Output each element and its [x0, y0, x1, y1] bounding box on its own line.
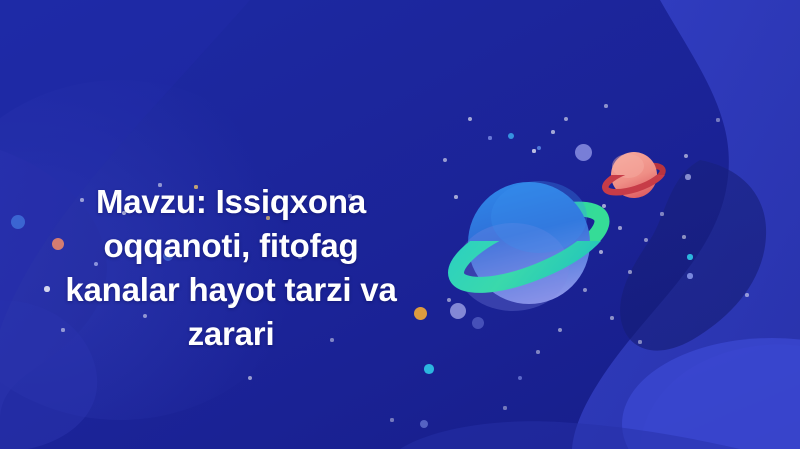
star-dot [518, 376, 522, 380]
star-dot [450, 270, 454, 274]
star-dot [468, 117, 472, 121]
star-dot [472, 317, 484, 329]
star-dot [390, 418, 393, 421]
star-dot [682, 235, 686, 239]
star-dot [532, 149, 535, 152]
slide-title: Mavzu: Issiqxona oqqanoti, fitofag kanal… [36, 180, 426, 356]
star-dot [454, 195, 458, 199]
star-dot [644, 238, 648, 242]
star-dot [745, 293, 749, 297]
star-dot [503, 406, 506, 409]
star-dot [11, 215, 25, 229]
star-dot [602, 204, 606, 208]
star-dot [420, 420, 428, 428]
star-dot [564, 117, 568, 121]
star-dot [551, 130, 555, 134]
star-dot [468, 251, 472, 255]
star-dot [248, 376, 253, 381]
star-dot [583, 288, 587, 292]
star-dot [638, 340, 641, 343]
star-dot [453, 265, 459, 271]
star-dot [716, 118, 719, 121]
star-dot [508, 133, 515, 140]
star-dot [443, 158, 448, 163]
ringed-planet-red-icon [602, 142, 670, 212]
star-dot [604, 104, 608, 108]
star-dot [618, 226, 622, 230]
star-dot [687, 273, 692, 278]
star-dot [687, 254, 692, 259]
star-dot [558, 328, 562, 332]
star-dot [685, 174, 690, 179]
star-dot [461, 285, 464, 288]
star-dot [684, 154, 688, 158]
star-dot [488, 136, 491, 139]
star-dot [628, 270, 632, 274]
star-dot [537, 146, 542, 151]
star-dot [660, 212, 663, 215]
star-dot [575, 144, 592, 161]
presentation-slide: Mavzu: Issiqxona oqqanoti, fitofag kanal… [0, 0, 800, 449]
star-dot [447, 298, 451, 302]
star-dot [599, 250, 604, 255]
ringed-planet-blue-icon [443, 155, 618, 335]
star-dot [536, 350, 540, 354]
star-dot [424, 364, 434, 374]
star-dot [610, 316, 614, 320]
star-dot [450, 303, 466, 319]
